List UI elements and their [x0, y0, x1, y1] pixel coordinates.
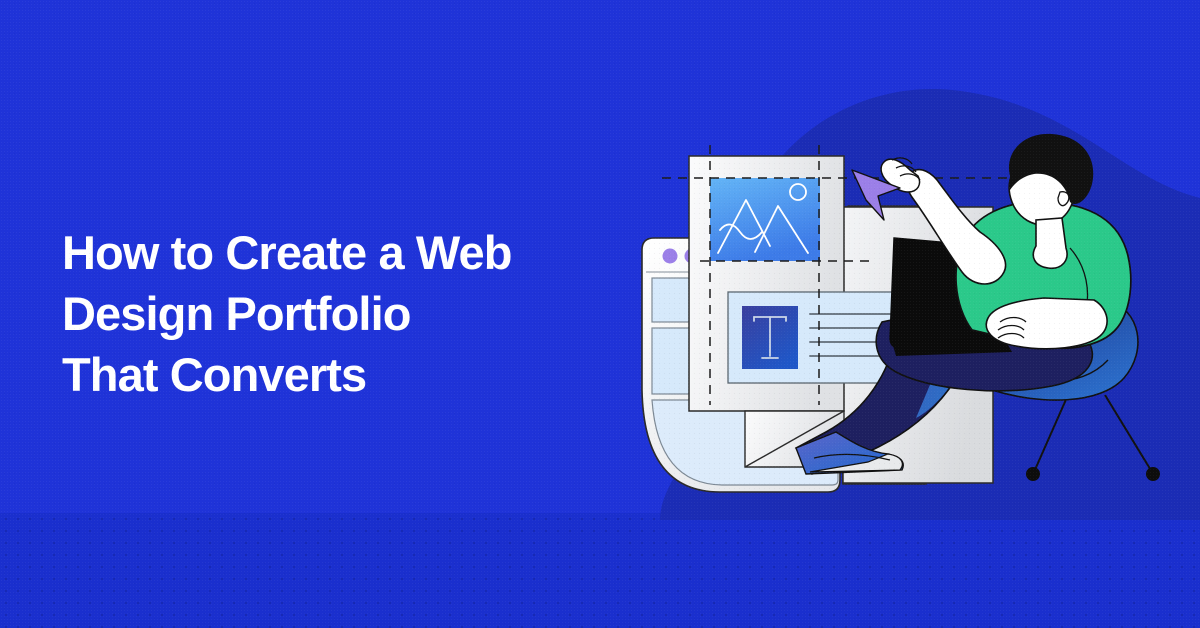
- neck: [1033, 218, 1067, 268]
- mountain-image-thumbnail[interactable]: [710, 178, 820, 261]
- bottom-color-band: [0, 513, 1200, 628]
- browser-dot-1: [663, 249, 678, 264]
- headline-line-3: That Converts: [62, 344, 602, 405]
- forearm-on-lap: [986, 298, 1107, 349]
- headline-line-1: How to Create a Web: [62, 222, 602, 283]
- banner-root: How to Create a Web Design Portfolio Tha…: [0, 0, 1200, 628]
- hero-illustration: [600, 60, 1200, 520]
- headline-line-2: Design Portfolio: [62, 283, 602, 344]
- chair-foot-left: [1026, 467, 1040, 481]
- ear: [1058, 192, 1069, 206]
- page-title: How to Create a Web Design Portfolio Tha…: [62, 222, 602, 405]
- chair-foot-right: [1146, 467, 1160, 481]
